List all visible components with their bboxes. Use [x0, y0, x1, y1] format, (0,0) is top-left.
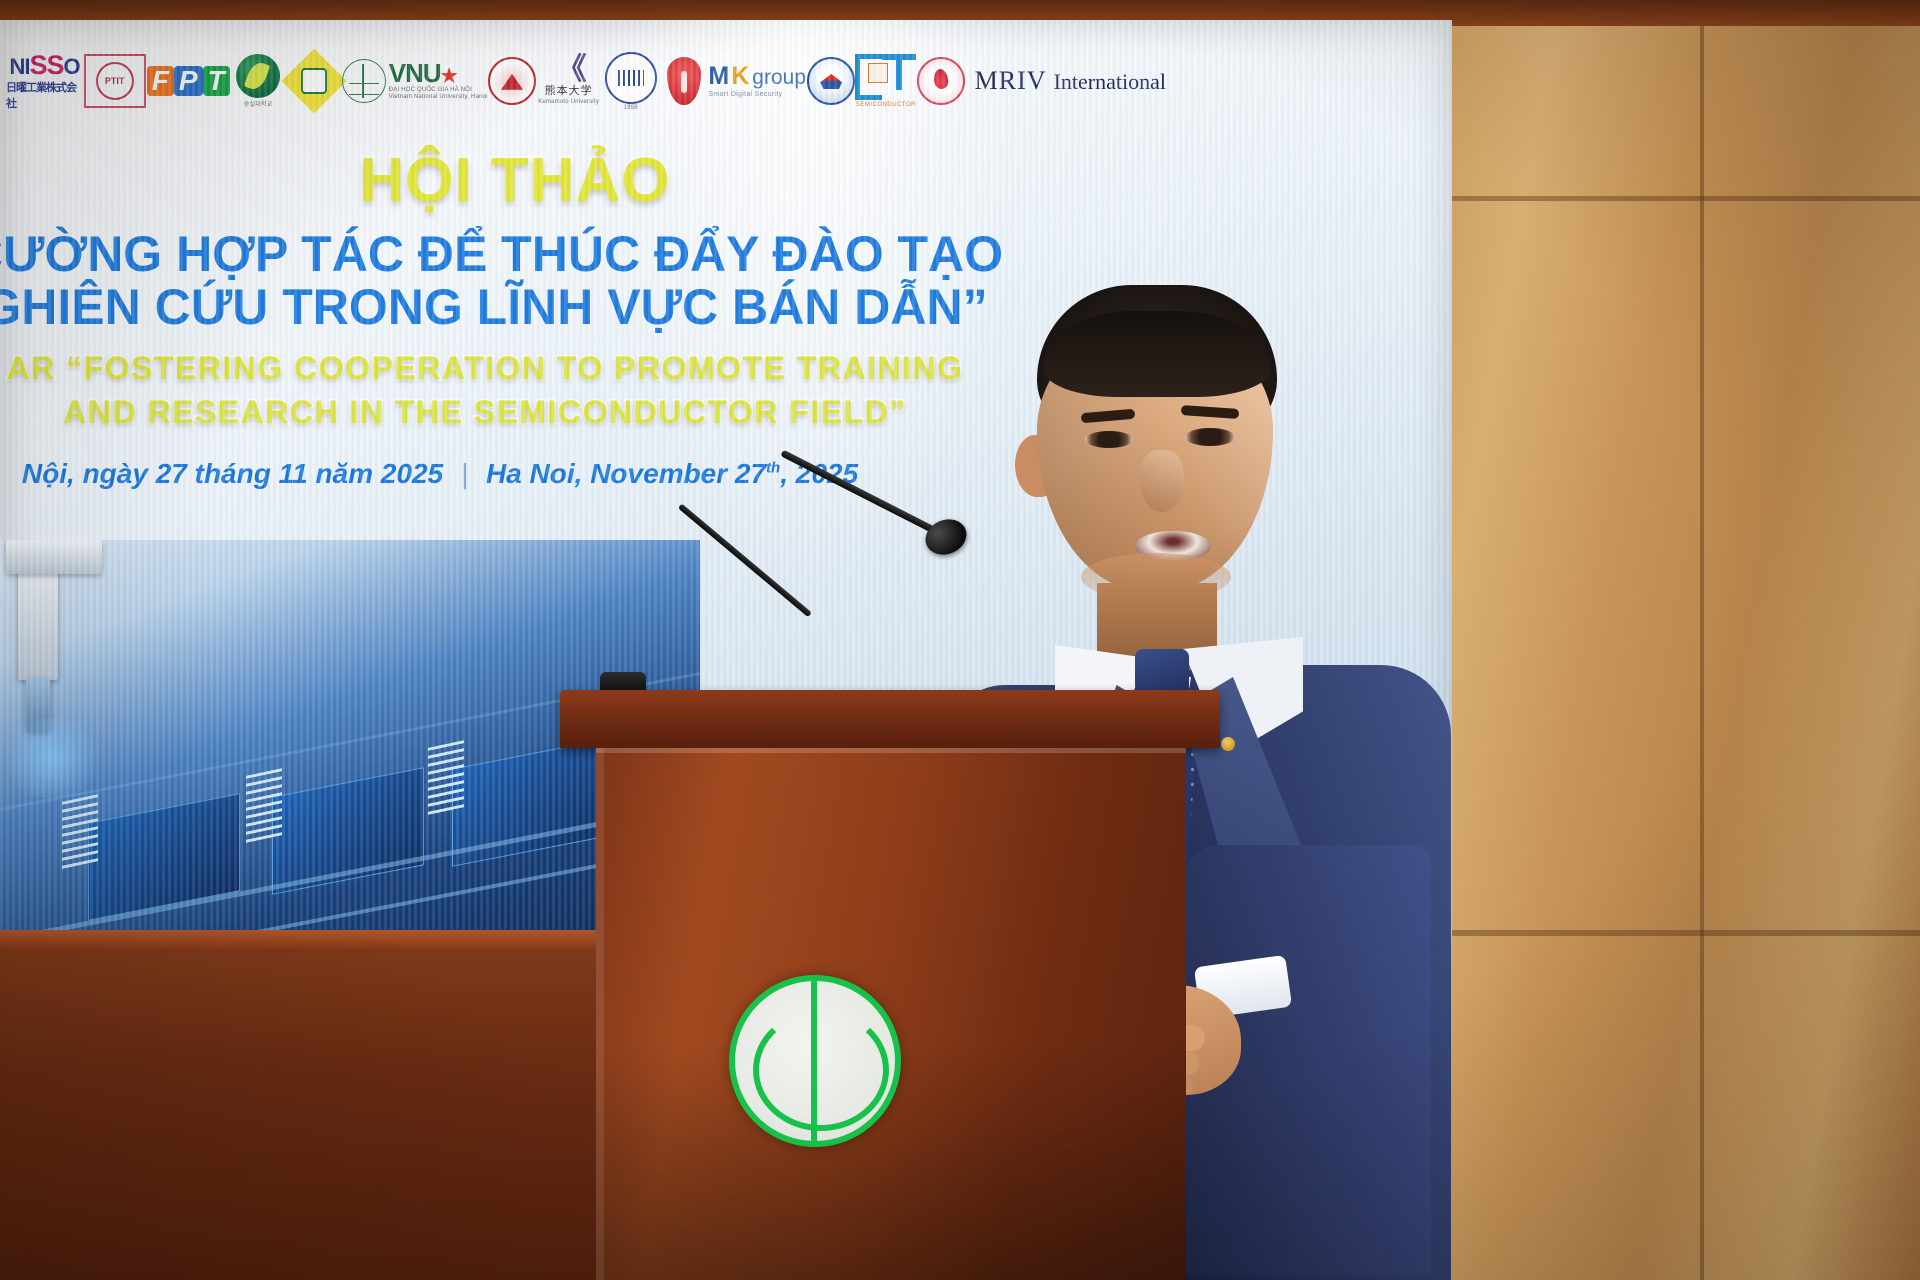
podium-edge-highlight	[596, 748, 1186, 753]
medal-institute-logo	[807, 57, 855, 105]
date-english-ordinal: th	[766, 460, 780, 477]
mriv-international-logo: MRIV International	[975, 66, 1166, 96]
emblem-arc	[753, 1009, 889, 1131]
ct-letter-t	[882, 54, 916, 90]
fpt-letter-p: P	[174, 66, 203, 96]
date-vietnamese: Nội, ngày 27 tháng 11 năm 2025	[22, 458, 443, 489]
wall-wood-panel-right	[1430, 0, 1920, 1280]
speaker-eye-left	[1085, 431, 1133, 448]
chevron-mark-icon: 《	[557, 58, 581, 82]
emblem-bar	[811, 981, 817, 1141]
lower-wood-wall	[0, 945, 700, 1280]
podium-top-ledge	[560, 690, 1220, 748]
red-seal-logo	[488, 57, 536, 105]
mriv-suffix: International	[1054, 69, 1166, 95]
panel-seam	[1700, 0, 1704, 1280]
pick-and-place-head	[6, 540, 102, 574]
red-drop-seal-logo	[917, 57, 965, 105]
nisso-logo: NISSO 日曜工業株式会社	[6, 52, 83, 111]
mk-group-logo: M K group Smart Digital Security	[707, 64, 807, 98]
panel-seam	[1430, 930, 1920, 936]
green-circle-emblem	[729, 975, 901, 1147]
podium-shading	[596, 748, 1186, 1280]
red-shield-logo	[660, 57, 707, 105]
chip-pins	[428, 740, 464, 818]
vnu-seal-icon	[342, 59, 386, 103]
photograph-scene: NISSO 日曜工業株式会社 PTIT F P T 숭실대학교	[0, 0, 1920, 1280]
fpt-letter-f: F	[147, 66, 174, 96]
banner-english-line-1: AR “FOSTERING COOPERATION TO PROMOTE TRA…	[0, 350, 1030, 387]
star-icon: ★	[441, 66, 457, 87]
banner-circuit-board-graphic	[0, 540, 700, 965]
chip-icon	[868, 63, 888, 83]
podium-edge-highlight	[596, 748, 604, 1280]
flame-drop-icon	[917, 57, 965, 105]
red-seal-icon	[488, 57, 536, 105]
banner-vietnamese-line-2: GHIÊN CỨU TRONG LĨNH VỰC BÁN DẪN”	[0, 278, 1030, 336]
speaker-eye-right	[1185, 428, 1235, 446]
nisso-logo-subtitle: 日曜工業株式会社	[6, 79, 83, 111]
diamond-logo	[286, 58, 342, 104]
blue-circle-university-logo: 1959	[601, 52, 660, 111]
date-english: Ha Noi, November 27	[486, 458, 766, 489]
ptit-logo: PTIT	[83, 54, 146, 108]
blue-circle-icon	[605, 52, 657, 104]
speaker-necktie-knot	[1135, 649, 1189, 693]
speaker-hair-front	[1043, 311, 1271, 397]
light-glow	[0, 718, 106, 798]
speaker-lapel-pin	[1221, 737, 1235, 751]
banner-kicker: HỘI THẢO	[0, 145, 1030, 216]
red-shield-icon	[667, 57, 701, 105]
date-separator: |	[451, 458, 478, 489]
speaker-nose	[1140, 450, 1184, 512]
wood-trim-rail	[0, 930, 700, 952]
medal-icon	[807, 57, 855, 105]
panel-seam	[1430, 196, 1920, 201]
fpt-logo: F P T	[146, 66, 230, 96]
kumamoto-university-logo: 《 熊本大学 Kumamoto University	[536, 58, 602, 105]
chip-icon	[272, 767, 424, 895]
fpt-letter-t: T	[203, 66, 230, 96]
ct-semiconductor-logo: SEMICONDUCTOR	[855, 54, 916, 108]
banner-vietnamese-line-1: CƯỜNG HỢP TÁC ĐỂ THÚC ĐẨY ĐÀO TẠO	[0, 225, 1030, 283]
soongsil-logo: 숭실대학교	[230, 54, 286, 108]
vnu-logo: VNU★ ĐẠI HỌC QUỐC GIA HÀ NỘI Vietnam Nat…	[342, 59, 488, 103]
chip-pins	[62, 794, 98, 872]
diamond-icon	[281, 48, 346, 113]
mriv-name: MRIV	[975, 66, 1047, 96]
leaf-icon	[236, 54, 280, 98]
sponsor-logo-strip: NISSO 日曜工業株式会社 PTIT F P T 숭실대학교	[0, 42, 1166, 120]
chip-icon	[88, 793, 240, 921]
chip-pins	[246, 768, 282, 846]
banner-english-line-2: AND RESEARCH IN THE SEMICONDUCTOR FIELD”	[0, 394, 1030, 431]
